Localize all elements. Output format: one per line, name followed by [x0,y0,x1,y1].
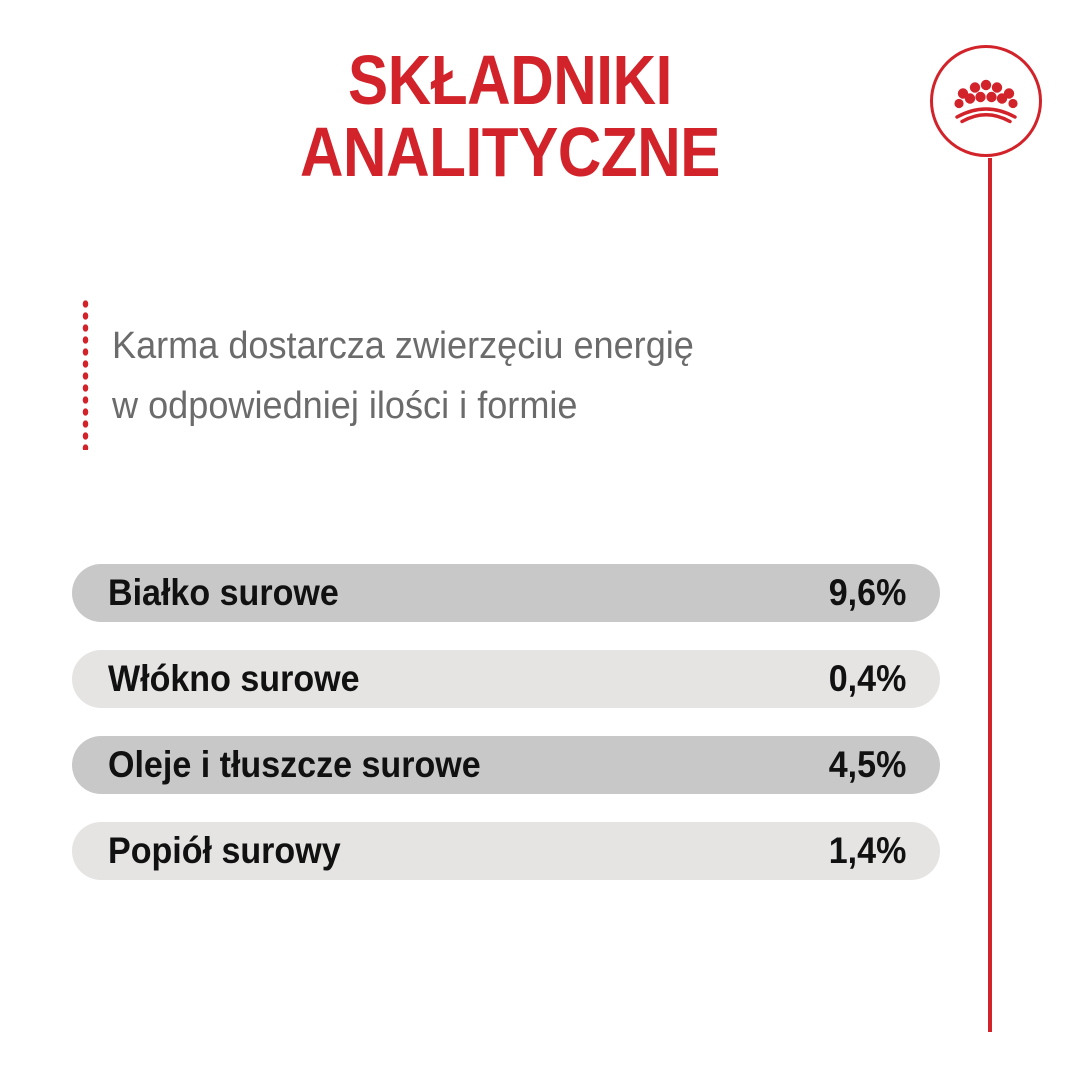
table-row: Włókno surowe 0,4% [72,650,940,708]
table-row: Oleje i tłuszcze surowe 4,5% [72,736,940,794]
nutrient-value: 1,4% [828,831,906,871]
table-row: Popiół surowy 1,4% [72,822,940,880]
nutrient-table: Białko surowe 9,6% Włókno surowe 0,4% Ol… [72,564,940,908]
page-title-line-2: ANALITYCZNE [209,116,811,188]
table-row: Białko surowe 9,6% [72,564,940,622]
dotted-accent-rule [81,298,90,450]
nutrient-value: 0,4% [828,659,906,699]
page-title-line-1: SKŁADNIKI [209,44,811,116]
nutrient-value: 9,6% [828,573,906,613]
nutrient-label: Włókno surowe [108,659,360,699]
infographic-page: SKŁADNIKI ANALITYCZNE Karma dostarcza zw… [0,0,1080,1080]
nutrient-value: 4,5% [828,745,906,785]
royal-canin-crown-icon [954,79,1018,125]
page-title: SKŁADNIKI ANALITYCZNE [160,44,860,188]
brand-logo [930,45,1048,163]
intro-text: Karma dostarcza zwierzęciu energię w odp… [112,316,777,436]
nutrient-label: Białko surowe [108,573,339,613]
intro-text-line-2: w odpowiedniej ilości i formie [112,376,777,436]
nutrient-label: Popiół surowy [108,831,341,871]
intro-text-line-1: Karma dostarcza zwierzęciu energię [112,316,777,376]
nutrient-label: Oleje i tłuszcze surowe [108,745,481,785]
logo-stem-line [988,158,992,1032]
